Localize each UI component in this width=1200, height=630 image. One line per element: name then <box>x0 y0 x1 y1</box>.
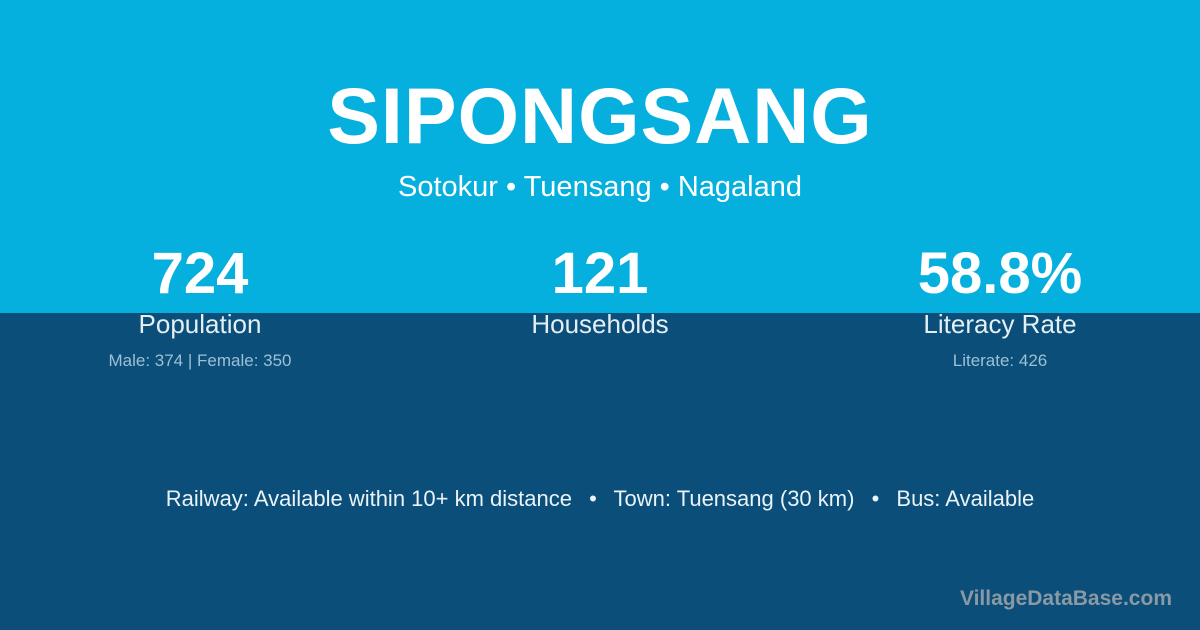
stat-population: 724 Population Male: 374 | Female: 350 <box>0 240 400 372</box>
infra-item-town: Town: Tuensang (30 km) <box>614 486 855 511</box>
stat-value-households: 121 <box>400 240 800 308</box>
stat-label-households: Households <box>400 308 800 340</box>
location-breadcrumb: Sotokur • Tuensang • Nagaland <box>0 155 1200 202</box>
header: SIPONGSANG Sotokur • Tuensang • Nagaland <box>0 0 1200 202</box>
stat-literacy-rate: 58.8% Literacy Rate Literate: 426 <box>800 240 1200 372</box>
stat-value-population: 724 <box>0 240 400 308</box>
stat-label-literacy-rate: Literacy Rate <box>800 308 1200 340</box>
stat-sub-literacy-rate: Literate: 426 <box>800 340 1200 372</box>
page-title: SIPONGSANG <box>0 0 1200 155</box>
stats-row: 724 Population Male: 374 | Female: 350 1… <box>0 240 1200 372</box>
stat-sub-population: Male: 374 | Female: 350 <box>0 340 400 372</box>
infra-separator-1: • <box>578 484 608 514</box>
village-info-card: SIPONGSANG Sotokur • Tuensang • Nagaland… <box>0 0 1200 630</box>
infra-separator-2: • <box>861 484 891 514</box>
stat-label-population: Population <box>0 308 400 340</box>
infra-item-bus: Bus: Available <box>896 486 1034 511</box>
stat-value-literacy-rate: 58.8% <box>800 240 1200 308</box>
stat-households: 121 Households <box>400 240 800 372</box>
infrastructure-line: Railway: Available within 10+ km distanc… <box>0 484 1200 514</box>
infra-item-railway: Railway: Available within 10+ km distanc… <box>166 486 572 511</box>
stat-sub-households <box>400 340 800 372</box>
site-watermark: VillageDataBase.com <box>960 586 1172 612</box>
